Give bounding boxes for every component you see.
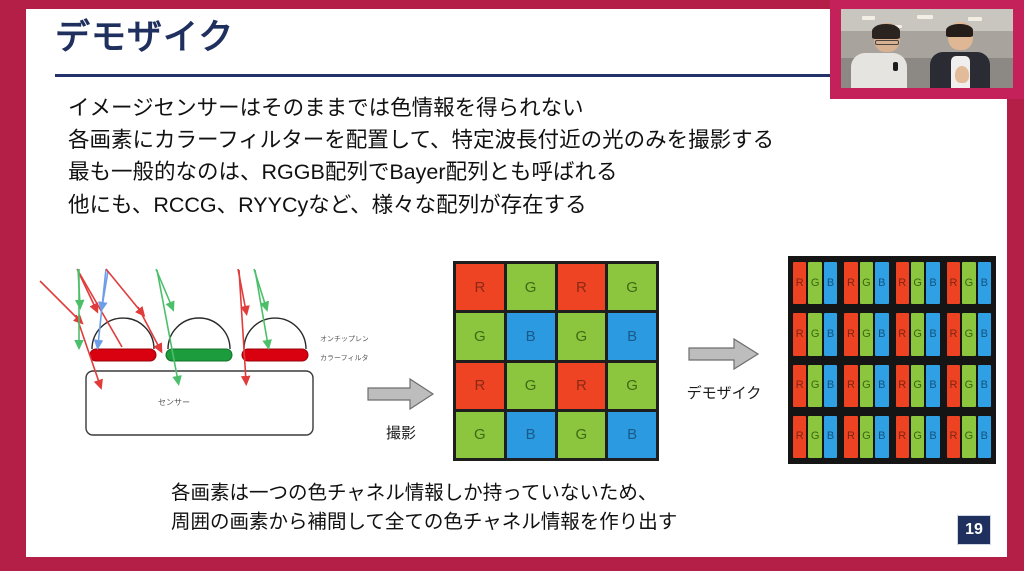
- sensor-body-rect: [86, 371, 313, 435]
- bayer-cell-2-3: G: [608, 363, 656, 409]
- rgb-cell-3-0: RGB: [792, 414, 838, 460]
- rgb-stripe-g: G: [911, 262, 924, 304]
- rgb-stripe-b: B: [875, 313, 888, 355]
- color-filter-green: [166, 349, 232, 361]
- bayer-cell-2-2: R: [558, 363, 606, 409]
- arrow-shape-capture: [366, 377, 436, 411]
- page-number-badge: 19: [957, 515, 991, 545]
- demosaic-flow-arrow: デモザイク: [678, 337, 770, 403]
- rgb-stripe-b: B: [926, 313, 939, 355]
- body-line-1: イメージセンサーはそのままでは色情報を得られない: [68, 93, 774, 124]
- rgb-cell-2-3: RGB: [946, 363, 992, 409]
- bayer-cell-1-2: G: [558, 313, 606, 359]
- rgb-stripe-g: G: [962, 313, 975, 355]
- bayer-cell-1-3: B: [608, 313, 656, 359]
- bayer-cell-0-3: G: [608, 264, 656, 310]
- bayer-cell-0-2: R: [558, 264, 606, 310]
- rgb-stripe-r: R: [947, 416, 960, 458]
- rgb-cell-1-3: RGB: [946, 311, 992, 357]
- rgb-stripe-r: R: [844, 365, 857, 407]
- rgb-cell-1-0: RGB: [792, 311, 838, 357]
- rgb-stripe-g: G: [911, 365, 924, 407]
- rgb-cell-0-1: RGB: [843, 260, 889, 306]
- rgb-stripe-g: G: [860, 313, 873, 355]
- rgb-stripe-r: R: [793, 416, 806, 458]
- rgb-stripe-r: R: [793, 365, 806, 407]
- rgb-cell-0-3: RGB: [946, 260, 992, 306]
- webcam-overlay[interactable]: [830, 0, 1024, 99]
- rgb-stripe-r: R: [896, 365, 909, 407]
- webcam-person-1-hair: [872, 24, 900, 39]
- webcam-person-2-hair: [946, 24, 973, 37]
- bottom-caption-block: 各画素は一つの色チャネル情報しか持っていないため、 周囲の画素から補間して全ての…: [171, 479, 677, 538]
- rgb-stripe-r: R: [947, 313, 960, 355]
- bayer-cell-2-0: R: [456, 363, 504, 409]
- sensor-diagram-svg: オンチップレンズ カラーフィルター センサー: [38, 249, 368, 439]
- rgb-stripe-b: B: [824, 416, 837, 458]
- rgb-stripe-b: B: [824, 365, 837, 407]
- webcam-person-1-microphone: [893, 62, 898, 71]
- rgb-cell-2-0: RGB: [792, 363, 838, 409]
- rgb-stripe-g: G: [962, 365, 975, 407]
- rgb-cell-1-1: RGB: [843, 311, 889, 357]
- body-line-2: 各画素にカラーフィルターを配置して、特定波長付近の光のみを撮影する: [68, 125, 774, 156]
- sensor-cross-section-diagram: オンチップレンズ カラーフィルター センサー: [38, 249, 368, 439]
- title-underline-rule: [55, 74, 833, 77]
- rgb-stripe-r: R: [896, 313, 909, 355]
- microlens-dome-1: [92, 318, 154, 349]
- ray-red-2a: [106, 269, 142, 313]
- slide-outer-frame: デモザイク イメージセンサーはそのままでは色情報を得られない 各画素にカラーフィ…: [0, 0, 1024, 571]
- webcam-ceiling-light-2: [917, 15, 933, 19]
- webcam-person-1-glasses: [875, 40, 899, 45]
- rgb-stripe-r: R: [793, 262, 806, 304]
- rgb-stripe-g: G: [962, 416, 975, 458]
- rgb-cell-0-0: RGB: [792, 260, 838, 306]
- rgb-stripe-b: B: [978, 416, 991, 458]
- bayer-cell-2-1: G: [507, 363, 555, 409]
- rgb-stripe-g: G: [808, 365, 821, 407]
- rgb-stripe-g: G: [860, 416, 873, 458]
- rgb-stripe-g: G: [962, 262, 975, 304]
- rgb-stripe-b: B: [824, 262, 837, 304]
- rgb-cell-0-2: RGB: [895, 260, 941, 306]
- rgb-stripe-g: G: [808, 262, 821, 304]
- rgb-stripe-g: G: [860, 365, 873, 407]
- rgb-stripe-g: G: [911, 313, 924, 355]
- rgb-stripe-b: B: [978, 262, 991, 304]
- rgb-stripe-b: B: [875, 416, 888, 458]
- caption-line-2: 周囲の画素から補間して全ての色チャネル情報を作り出す: [171, 508, 677, 537]
- bayer-cell-0-0: R: [456, 264, 504, 310]
- body-line-3: 最も一般的なのは、RGGB配列でBayer配列とも呼ばれる: [68, 157, 774, 188]
- rgb-stripe-b: B: [978, 365, 991, 407]
- rgb-stripe-b: B: [875, 262, 888, 304]
- label-color-filter: カラーフィルター: [320, 353, 368, 362]
- webcam-ceiling-light-3: [968, 17, 982, 21]
- rgb-cell-3-2: RGB: [895, 414, 941, 460]
- rgb-cell-2-2: RGB: [895, 363, 941, 409]
- arrow-shape-demosaic: [687, 337, 761, 371]
- ray-red-incoming-1: [40, 281, 80, 321]
- page-title: デモザイク: [55, 19, 234, 58]
- ray-green-2b: [157, 270, 178, 381]
- webcam-video-feed[interactable]: [841, 9, 1013, 88]
- label-sensor: センサー: [158, 398, 190, 407]
- rgb-stripe-r: R: [896, 416, 909, 458]
- demosaiced-rgb-grid: RGBRGBRGBRGBRGBRGBRGBRGBRGBRGBRGBRGBRGBR…: [788, 256, 996, 464]
- bayer-cell-1-1: B: [507, 313, 555, 359]
- bayer-cell-3-3: B: [608, 412, 656, 458]
- bayer-cell-0-1: G: [507, 264, 555, 310]
- rgb-stripe-g: G: [808, 416, 821, 458]
- rgb-stripe-r: R: [793, 313, 806, 355]
- bayer-cell-3-0: G: [456, 412, 504, 458]
- webcam-person-2-hands: [955, 66, 969, 83]
- webcam-person-1-body: [851, 53, 907, 88]
- microlens-dome-3: [244, 318, 306, 349]
- bayer-pattern-grid: RGRGGBGBRGRGGBGB: [453, 261, 659, 461]
- rgb-stripe-b: B: [875, 365, 888, 407]
- caption-line-1: 各画素は一つの色チャネル情報しか持っていないため、: [171, 479, 677, 508]
- demosaic-arrow-label: デモザイク: [678, 382, 770, 403]
- rgb-stripe-b: B: [926, 262, 939, 304]
- ray-red-3b: [239, 270, 246, 381]
- rgb-stripe-r: R: [947, 365, 960, 407]
- rgb-stripe-g: G: [860, 262, 873, 304]
- rgb-cell-3-3: RGB: [946, 414, 992, 460]
- webcam-background-ceiling: [841, 9, 1013, 31]
- webcam-ceiling-light-1: [862, 16, 875, 20]
- ray-green-3b: [255, 270, 268, 345]
- capture-arrow-label: 撮影: [361, 422, 441, 443]
- ray-red-2b: [138, 307, 160, 349]
- rgb-stripe-g: G: [911, 416, 924, 458]
- rgb-stripe-r: R: [896, 262, 909, 304]
- page-title-block: デモザイク: [55, 19, 234, 58]
- rgb-cell-2-1: RGB: [843, 363, 889, 409]
- rgb-stripe-b: B: [978, 313, 991, 355]
- rgb-stripe-r: R: [844, 313, 857, 355]
- label-onchip-lens: オンチップレンズ: [320, 334, 368, 343]
- rgb-stripe-b: B: [926, 365, 939, 407]
- color-filter-red-1: [90, 349, 156, 361]
- rgb-stripe-r: R: [844, 262, 857, 304]
- rgb-cell-3-1: RGB: [843, 414, 889, 460]
- color-filter-red-2: [242, 349, 308, 361]
- body-text-block: イメージセンサーはそのままでは色情報を得られない 各画素にカラーフィルターを配置…: [68, 93, 774, 222]
- bayer-cell-3-1: B: [507, 412, 555, 458]
- body-line-4: 他にも、RCCG、RYYCyなど、様々な配列が存在する: [68, 190, 774, 221]
- rgb-stripe-r: R: [844, 416, 857, 458]
- bayer-cell-1-0: G: [456, 313, 504, 359]
- rgb-stripe-b: B: [824, 313, 837, 355]
- rgb-stripe-g: G: [808, 313, 821, 355]
- microlens-dome-2: [168, 318, 230, 349]
- rgb-stripe-b: B: [926, 416, 939, 458]
- rgb-cell-1-2: RGB: [895, 311, 941, 357]
- bayer-cell-3-2: G: [558, 412, 606, 458]
- rgb-stripe-r: R: [947, 262, 960, 304]
- capture-flow-arrow: 撮影: [361, 377, 441, 443]
